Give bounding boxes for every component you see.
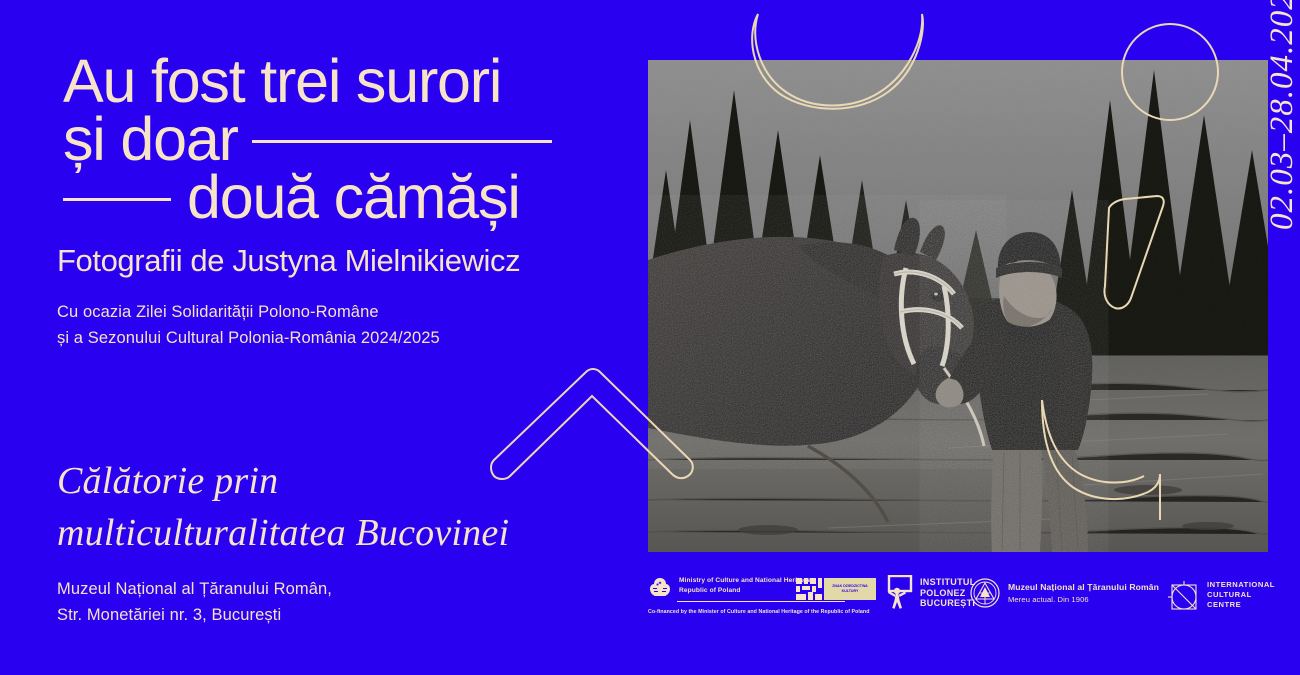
- title-rule-left: [63, 198, 171, 201]
- title-text-1: Au fost trei surori: [63, 52, 501, 110]
- occasion-text: Cu ocazia Zilei Solidarității Polono-Rom…: [57, 299, 440, 351]
- heritage-block-label: ZNAK DZIEDZICTWA KULTURY: [824, 578, 876, 600]
- title-rule-right: [252, 140, 552, 143]
- venue-line-2: Str. Monetăriei nr. 3, București: [57, 602, 332, 628]
- journey-line-1: Călătorie prin: [57, 455, 509, 507]
- polonez-figure-icon: [886, 575, 914, 611]
- journey-line-2: multiculturalitatea Bucovinei: [57, 507, 509, 559]
- polonez-line-3: BUCUREȘTI: [920, 598, 976, 609]
- polonez-text: INSTITUTUL POLONEZ BUCUREȘTI: [920, 577, 976, 609]
- occasion-line-2: și a Sezonului Cultural Polonia-România …: [57, 325, 440, 351]
- ministry-financing-note: Co-financed by the Minister of Culture a…: [648, 609, 878, 615]
- icc-line-1: INTERNATIONAL: [1207, 580, 1275, 590]
- polonez-line-2: POLONEZ: [920, 588, 976, 599]
- logo-muzeul-national: Muzeul Național al Țăranului Român Mereu…: [970, 578, 1159, 608]
- sponsor-logo-bar: Ministry of Culture and National Heritag…: [648, 572, 1268, 630]
- title-text-3: două cămăși: [187, 168, 520, 226]
- icc-mark-icon: [1166, 577, 1200, 613]
- author-credit: Fotografii de Justyna Mielnikiewicz: [57, 243, 520, 279]
- logo-institutul-polonez: INSTITUTUL POLONEZ BUCUREȘTI: [886, 575, 976, 611]
- venue-line-1: Muzeul Național al Țăranului Român,: [57, 576, 332, 602]
- heritage-block-text: ZNAK DZIEDZICTWA KULTURY: [824, 584, 876, 593]
- icc-line-3: CENTRE: [1207, 600, 1275, 610]
- muzeul-text: Muzeul Național al Țăranului Român Mereu…: [1008, 582, 1159, 604]
- ministry-text: Ministry of Culture and National Heritag…: [679, 576, 811, 595]
- logo-international-cultural-centre: INTERNATIONAL CULTURAL CENTRE: [1166, 577, 1275, 613]
- polish-eagle-icon: [648, 576, 672, 598]
- subtitle-journey: Călătorie prin multiculturalitatea Bucov…: [57, 455, 509, 559]
- polonez-line-1: INSTITUTUL: [920, 577, 976, 588]
- ministry-line-1: Ministry of Culture and National Heritag…: [679, 576, 811, 586]
- icc-text: INTERNATIONAL CULTURAL CENTRE: [1207, 580, 1275, 610]
- icc-line-2: CULTURAL: [1207, 590, 1275, 600]
- title-line-2: și doar: [57, 110, 677, 168]
- heritage-mark-icon: [796, 578, 822, 600]
- title-line-1: Au fost trei surori: [57, 52, 677, 110]
- exhibition-dates: 02.03–28.04.2024: [1264, 0, 1300, 230]
- ministry-line-2: Republic of Poland: [679, 586, 811, 596]
- title-text-2: și doar: [63, 110, 238, 168]
- ministry-divider: [677, 601, 845, 602]
- exhibition-poster: Au fost trei surori și doar două cămăși …: [0, 0, 1300, 675]
- muzeul-seal-icon: [970, 578, 1000, 608]
- venue-address: Muzeul Național al Țăranului Român, Str.…: [57, 576, 332, 628]
- title-block: Au fost trei surori și doar două cămăși: [57, 52, 677, 226]
- logo-heritage-block: ZNAK DZIEDZICTWA KULTURY: [796, 578, 876, 600]
- title-line-3: două cămăși: [57, 168, 677, 226]
- occasion-line-1: Cu ocazia Zilei Solidarității Polono-Rom…: [57, 299, 440, 325]
- photo-illustration: [648, 60, 1268, 552]
- muzeul-line-1: Muzeul Național al Țăranului Român: [1008, 582, 1159, 592]
- muzeul-line-2: Mereu actual. Din 1906: [1008, 595, 1159, 604]
- exhibition-photo: [648, 60, 1268, 552]
